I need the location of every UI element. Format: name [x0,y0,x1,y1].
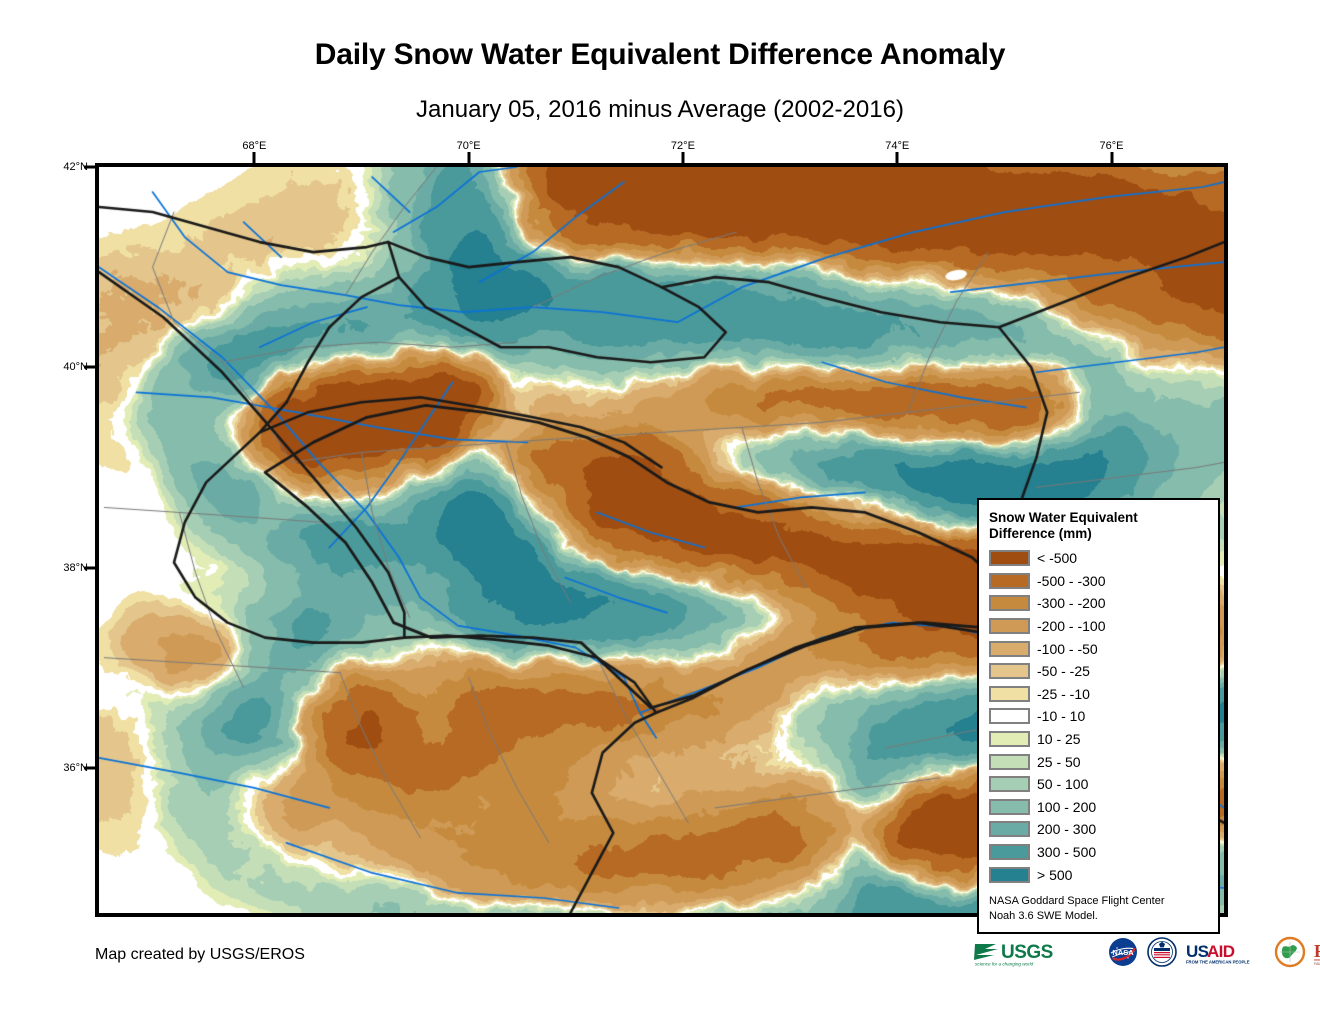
legend-label: -300 - -200 [1037,595,1105,611]
legend-row: -50 - -25 [989,660,1208,683]
legend-row: 200 - 300 [989,818,1208,841]
map-credit: Map created by USGS/EROS [95,946,305,964]
fewsnet-globe-icon [1274,936,1306,968]
map-legend: Snow Water Equivalent Difference (mm) < … [977,498,1220,934]
legend-label: > 500 [1037,867,1072,883]
legend-swatch [989,731,1030,747]
lon-tick-label: 74°E [885,140,909,152]
legend-label: 100 - 200 [1037,799,1096,815]
svg-text:NASA: NASA [1112,948,1134,957]
legend-swatch [989,573,1030,589]
svg-text:FROM THE AMERICAN PEOPLE: FROM THE AMERICAN PEOPLE [1186,960,1250,965]
logo-strip: USGS science for a changing world NASA U… [972,936,1320,968]
legend-swatch [989,844,1030,860]
legend-swatch [989,776,1030,792]
legend-swatch [989,595,1030,611]
fewsnet-logo: FEWS NET FAMINE EARLY WARNING SYSTEMS NE… [1313,936,1320,968]
legend-label: -500 - -300 [1037,573,1105,589]
legend-title: Snow Water Equivalent Difference (mm) [989,510,1208,543]
legend-swatch [989,754,1030,770]
usaid-logo: US AID FROM THE AMERICAN PEOPLE [1185,936,1267,968]
svg-text:science for a changing world: science for a changing world [975,962,1034,967]
lon-tick-label: 68°E [242,140,266,152]
legend-label: 300 - 500 [1037,844,1096,860]
svg-text:US: US [1186,942,1209,961]
legend-items: < -500-500 - -300-300 - -200-200 - -100-… [989,547,1208,886]
legend-swatch [989,821,1030,837]
legend-row: -500 - -300 [989,570,1208,593]
legend-swatch [989,686,1030,702]
lon-tick-label: 70°E [457,140,481,152]
page-subtitle: January 05, 2016 minus Average (2002-201… [0,96,1320,124]
legend-label: -10 - 10 [1037,708,1085,724]
svg-text:AID: AID [1207,942,1235,961]
svg-text:FAMINE EARLY WARNING SYSTEMS N: FAMINE EARLY WARNING SYSTEMS NETWORK [1314,962,1320,966]
legend-swatch [989,550,1030,566]
legend-row: > 500 [989,863,1208,886]
legend-label: -50 - -25 [1037,663,1090,679]
usaid-seal-icon [1146,936,1178,968]
legend-label: < -500 [1037,550,1077,566]
svg-text:USGS: USGS [1001,942,1053,963]
legend-swatch [989,641,1030,657]
nasa-logo: NASA [1107,936,1139,968]
legend-label: -100 - -50 [1037,641,1098,657]
legend-row: -10 - 10 [989,705,1208,728]
usgs-logo: USGS science for a changing world [972,936,1100,968]
legend-swatch [989,663,1030,679]
legend-label: 200 - 300 [1037,821,1096,837]
legend-swatch [989,618,1030,634]
legend-source-note: NASA Goddard Space Flight Center Noah 3.… [989,894,1208,924]
legend-row: -200 - -100 [989,615,1208,638]
lon-tick-label: 72°E [671,140,695,152]
legend-row: 100 - 200 [989,795,1208,818]
legend-label: -200 - -100 [1037,618,1105,634]
legend-row: 10 - 25 [989,728,1208,751]
legend-row: 300 - 500 [989,841,1208,864]
legend-row: -25 - -10 [989,683,1208,706]
svg-text:FEWS NET: FEWS NET [1314,941,1320,961]
lon-tick-label: 76°E [1100,140,1124,152]
legend-row: -100 - -50 [989,637,1208,660]
legend-row: -300 - -200 [989,592,1208,615]
legend-label: 50 - 100 [1037,776,1088,792]
legend-row: 50 - 100 [989,773,1208,796]
legend-label: 10 - 25 [1037,731,1081,747]
legend-swatch [989,708,1030,724]
legend-swatch [989,799,1030,815]
legend-swatch [989,867,1030,883]
legend-label: -25 - -10 [1037,686,1090,702]
legend-label: 25 - 50 [1037,754,1081,770]
legend-row: < -500 [989,547,1208,570]
page-title: Daily Snow Water Equivalent Difference A… [0,38,1320,72]
legend-row: 25 - 50 [989,750,1208,773]
